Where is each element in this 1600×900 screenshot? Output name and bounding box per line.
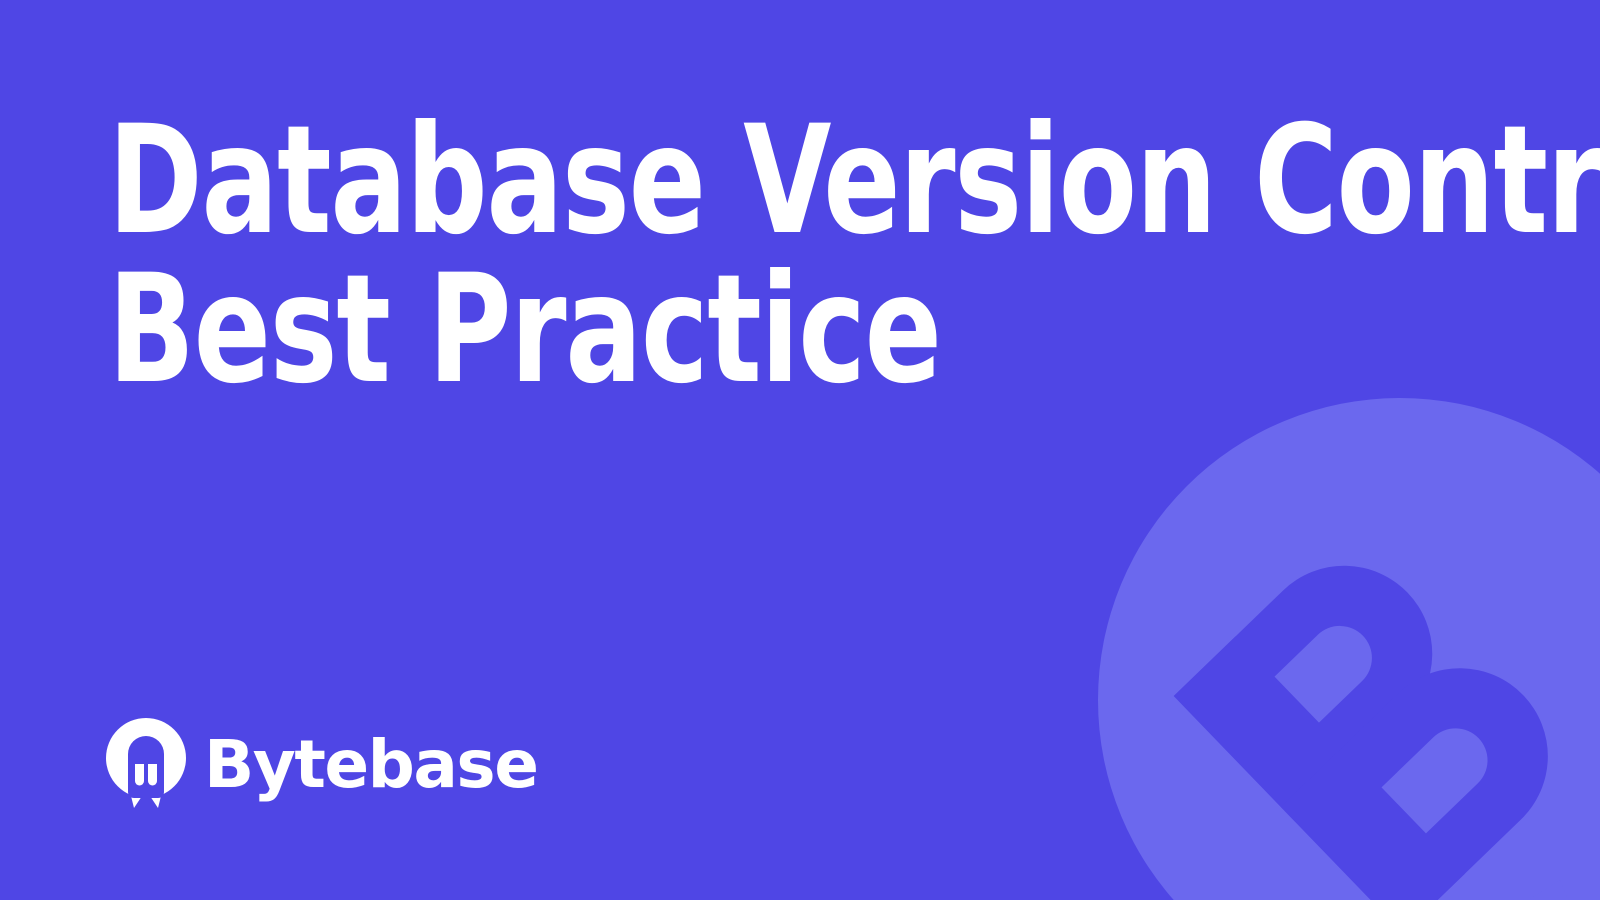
page-title: Database Version Control Best Practice xyxy=(108,107,1468,404)
logo-eye-right xyxy=(148,764,157,786)
bytebase-logo-lockup: Bytebase xyxy=(104,718,537,808)
logo-eye-left xyxy=(135,764,144,786)
watermark-bubble-tail xyxy=(1452,880,1600,900)
bytebase-wordmark: Bytebase xyxy=(204,732,537,798)
watermark-letter-b xyxy=(1174,521,1585,900)
headline-line-1: Database Version Control xyxy=(108,107,1257,256)
logo-face-plate xyxy=(128,736,164,798)
headline-line-2: Best Practice xyxy=(108,256,1257,405)
bytebase-logo-mark-icon xyxy=(104,718,188,808)
share-card-banner: Database Version Control Best Practice B… xyxy=(0,0,1600,900)
watermark-bubble-circle xyxy=(1098,398,1600,900)
